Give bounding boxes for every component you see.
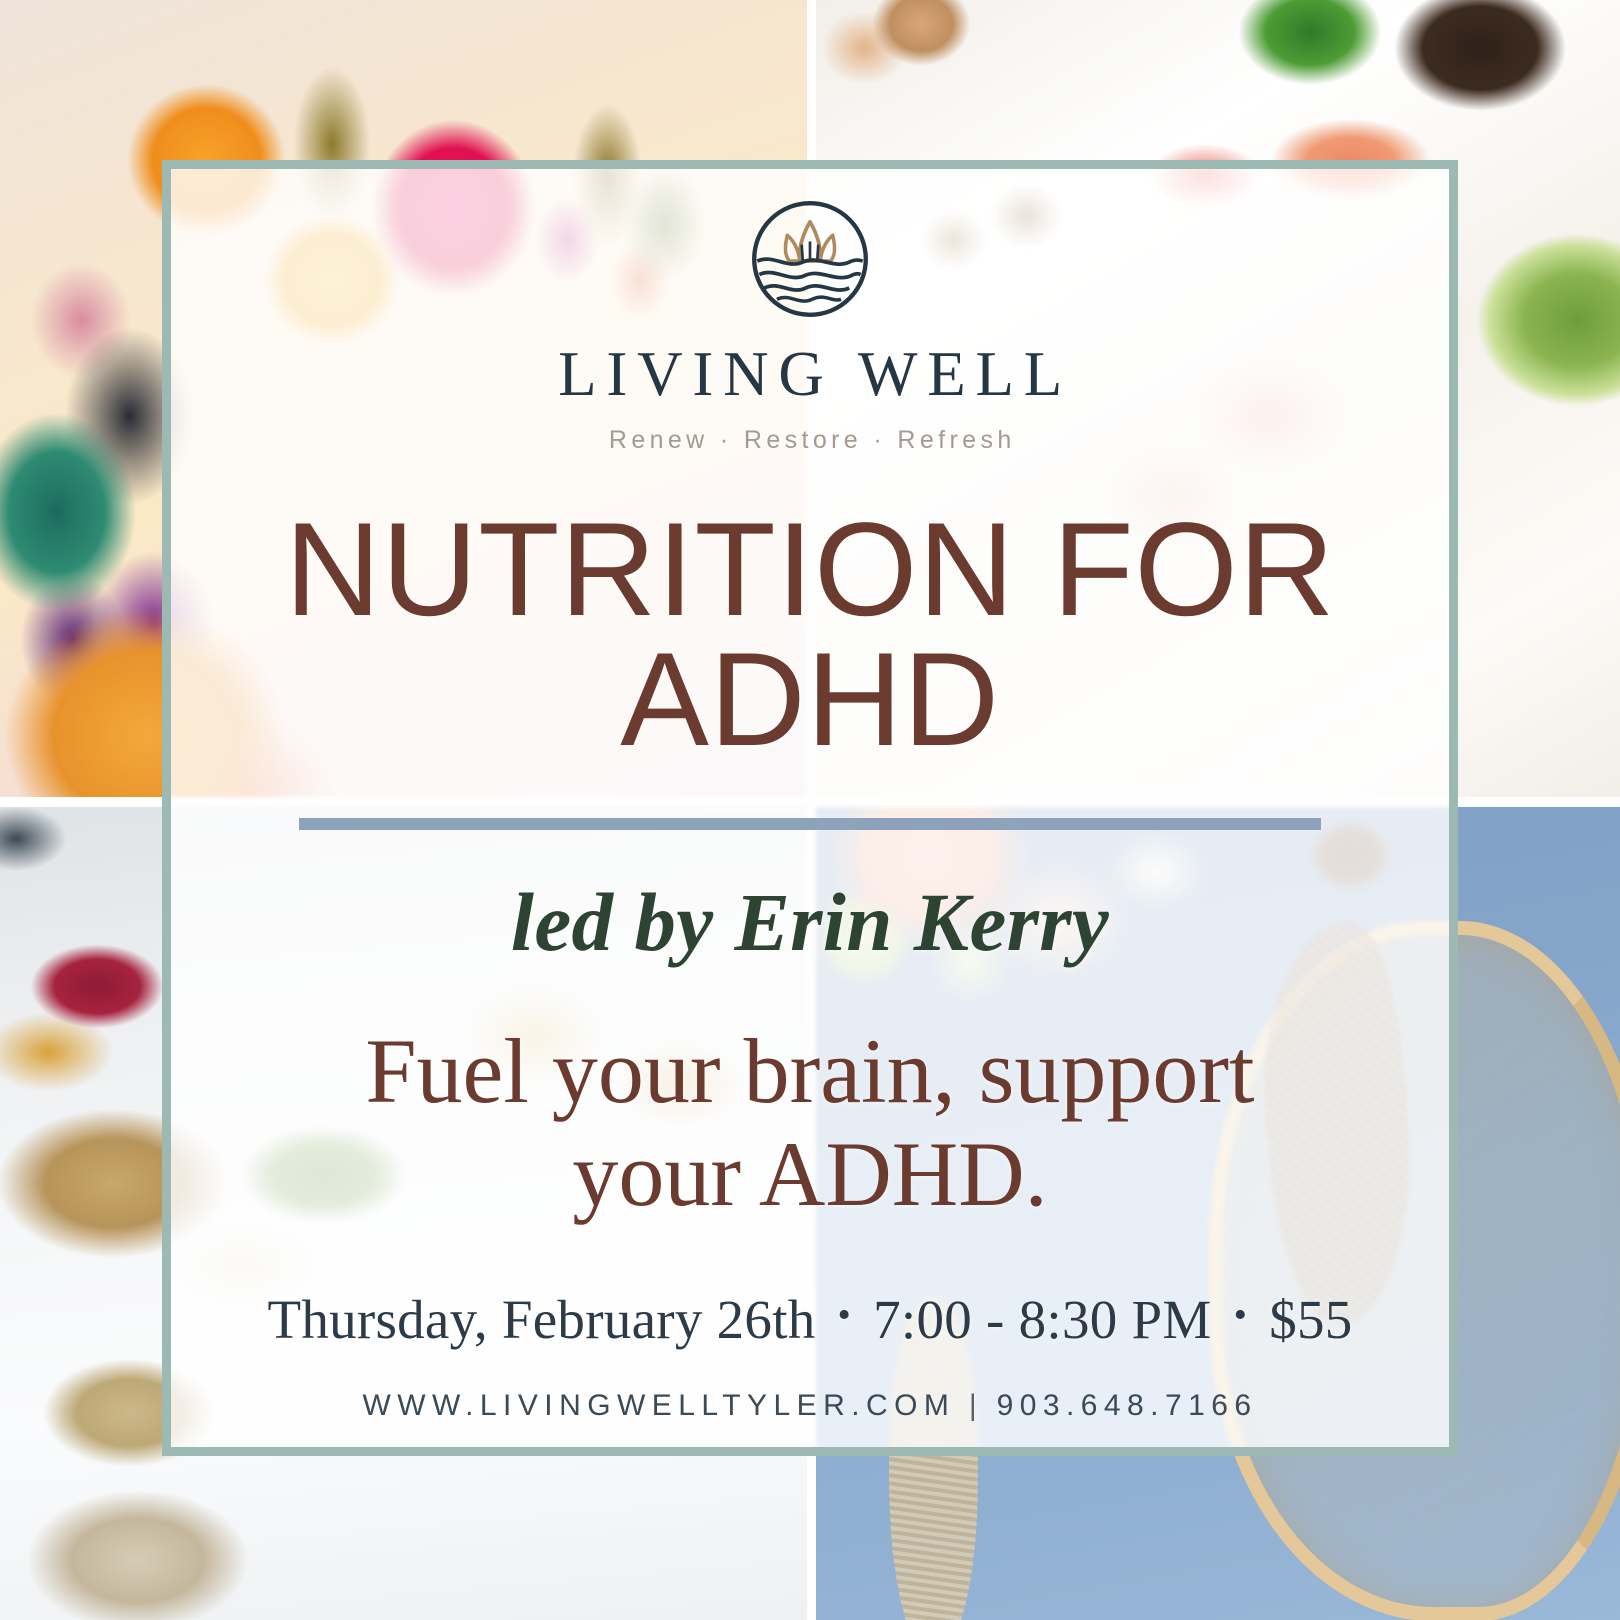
event-description-line2: your ADHD. bbox=[265, 1123, 1355, 1226]
contact-separator: | bbox=[969, 1389, 983, 1423]
contact-phone[interactable]: 903.648.7166 bbox=[997, 1389, 1258, 1423]
event-description: Fuel your brain, support your ADHD. bbox=[265, 1020, 1355, 1226]
event-time: 7:00 - 8:30 PM bbox=[873, 1288, 1211, 1351]
poster-canvas: LIVING WELL Renew · Restore · Refresh NU… bbox=[0, 0, 1620, 1620]
event-details: Thursday, February 26th • 7:00 - 8:30 PM… bbox=[267, 1288, 1352, 1351]
event-title-line2: ADHD bbox=[260, 635, 1360, 765]
detail-bullet-icon: • bbox=[1234, 1296, 1248, 1334]
event-description-line1: Fuel your brain, support bbox=[265, 1020, 1355, 1123]
event-title: NUTRITION FOR ADHD bbox=[260, 505, 1360, 766]
brand-lockup: LIVING WELL Renew · Restore · Refresh bbox=[548, 197, 1072, 455]
event-title-line1: NUTRITION FOR bbox=[260, 505, 1360, 635]
detail-bullet-icon: • bbox=[838, 1296, 852, 1334]
contact-website[interactable]: WWW.LIVINGWELLTYLER.COM bbox=[363, 1389, 956, 1423]
content-card: LIVING WELL Renew · Restore · Refresh NU… bbox=[162, 160, 1458, 1456]
event-date: Thursday, February 26th bbox=[267, 1288, 815, 1351]
lotus-water-circle-logo-icon bbox=[748, 197, 872, 321]
event-price: $55 bbox=[1269, 1288, 1352, 1351]
brand-name: LIVING WELL bbox=[558, 343, 1072, 406]
contact-bar: WWW.LIVINGWELLTYLER.COM | 903.648.7166 bbox=[363, 1389, 1258, 1423]
brand-tagline: Renew · Restore · Refresh bbox=[609, 426, 1016, 455]
section-divider bbox=[299, 818, 1321, 830]
event-presenter: led by Erin Kerry bbox=[511, 874, 1109, 970]
